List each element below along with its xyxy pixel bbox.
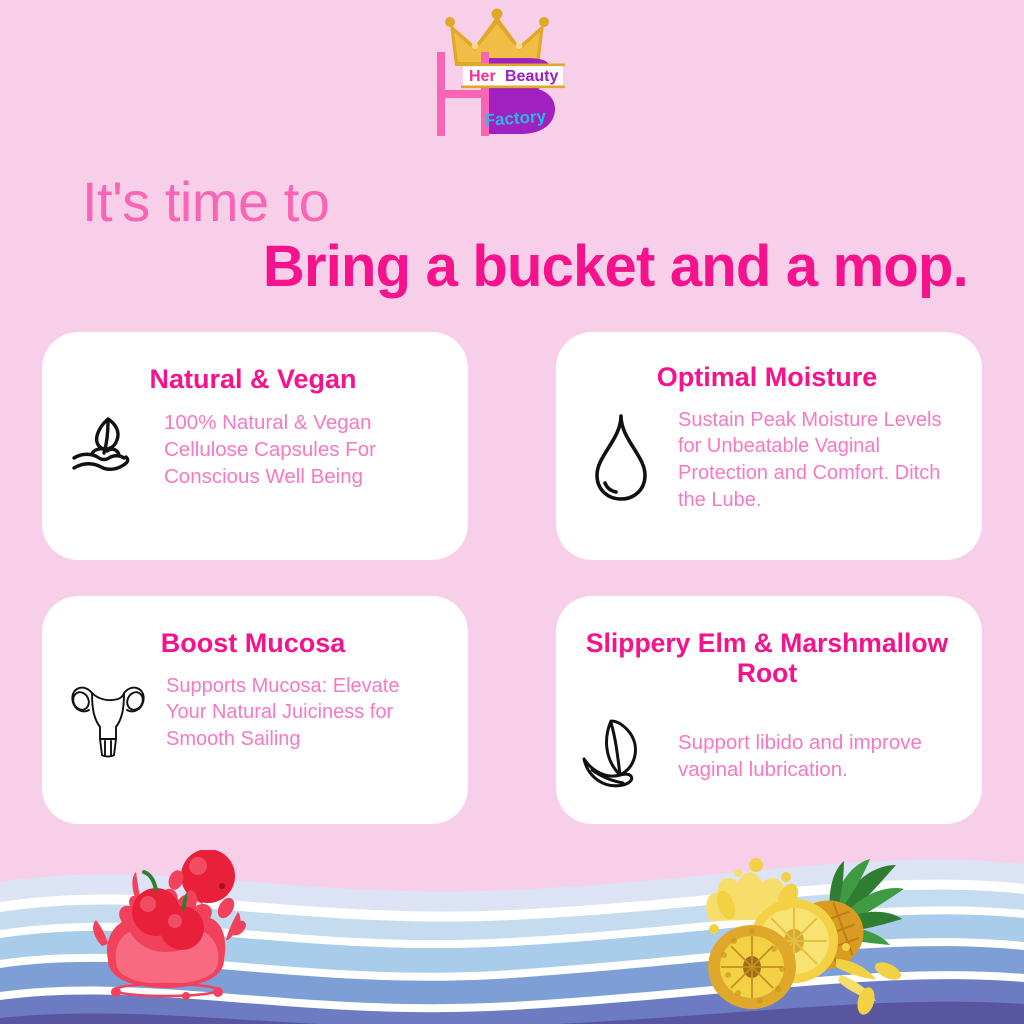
card-title: Optimal Moisture [578,354,956,393]
feature-card-optimal-moisture: Optimal Moisture Sustain Peak Moisture L… [556,332,982,560]
card-description: Supports Mucosa: Elevate Your Natural Ju… [166,673,442,753]
wave-decoration [0,842,1024,1024]
logo-banner: Her Beauty [461,64,565,89]
logo-her-text: Her [469,68,496,85]
card-description: 100% Natural & Vegan Cellulose Capsules … [164,409,442,491]
card-title: Slippery Elm & Marshmallow Root [578,618,956,688]
card-title: Boost Mucosa [64,618,442,659]
her-beauty-factory-logo-graphic: Her Beauty Factory [417,8,607,144]
headline-block: It's time to Bring a bucket and a mop. [0,172,1024,300]
card-description: Sustain Peak Moisture Levels for Unbeata… [678,407,956,513]
crown-icon [445,9,549,67]
brand-logo: Her Beauty Factory [0,6,1024,146]
headline-line-1: It's time to [56,172,968,231]
feature-card-slippery-elm: Slippery Elm & Marshmallow Root Support … [556,596,982,824]
card-description: Support libido and improve vaginal lubri… [678,729,956,784]
uterus-icon [64,673,152,769]
water-droplet-icon [578,407,664,503]
feature-card-boost-mucosa: Boost Mucosa [42,596,468,824]
pineapple-splash-illustration [690,851,920,1016]
headline-line-2: Bring a bucket and a mop. [56,235,968,300]
logo-beauty-text: Beauty [505,68,558,85]
feature-card-grid: Natural & Vegan 100% Natural & Vegan Cel… [42,332,982,824]
hand-with-leaf-icon [64,409,150,505]
feature-card-natural-vegan: Natural & Vegan 100% Natural & Vegan Cel… [42,332,468,560]
cherry-splash-illustration [78,850,278,1000]
two-leaves-icon [578,708,664,804]
card-title: Natural & Vegan [64,354,442,395]
